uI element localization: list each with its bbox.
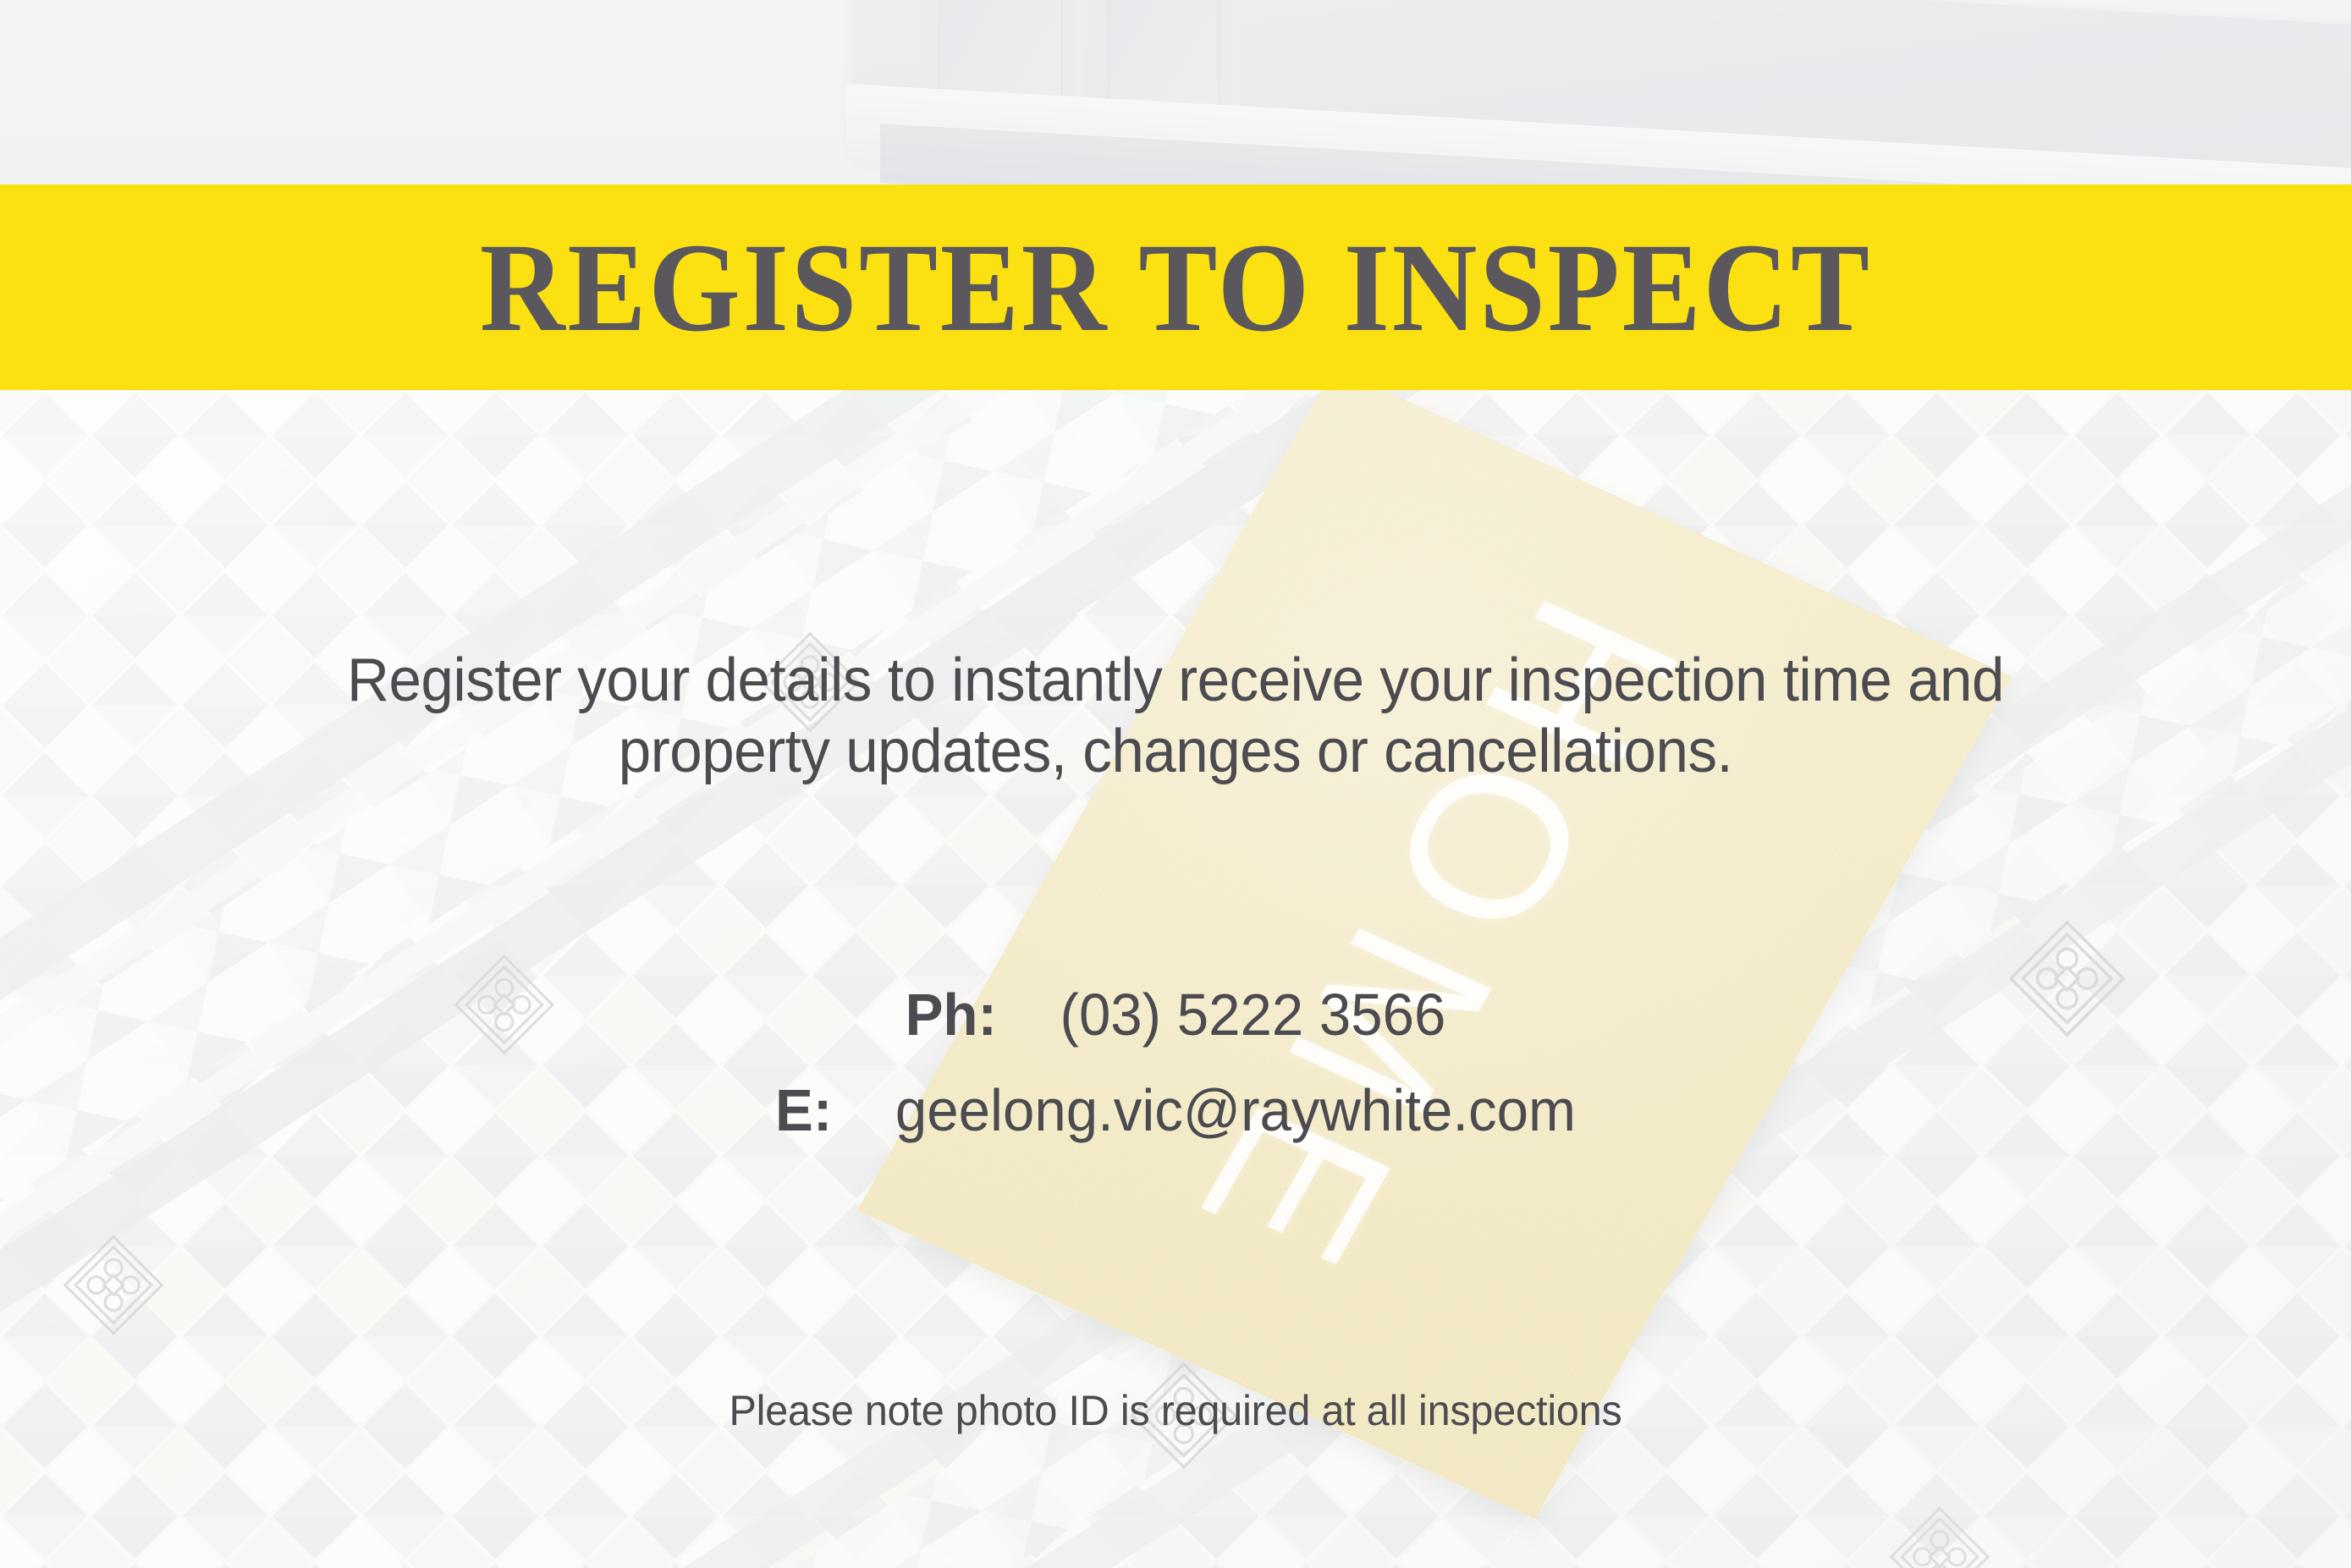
phone-number[interactable]: (03) 5222 3566 bbox=[1060, 982, 1446, 1048]
intro-paragraph: Register your details to instantly recei… bbox=[47, 645, 2304, 787]
photo-id-note: Please note photo ID is required at all … bbox=[36, 1386, 2316, 1435]
content-overlay: Register your details to instantly recei… bbox=[0, 0, 2351, 1568]
email-address[interactable]: geelong.vic@raywhite.com bbox=[895, 1077, 1576, 1143]
email-label: E: bbox=[775, 1077, 832, 1143]
contact-block: Ph: (03) 5222 3566 E: geelong.vic@raywhi… bbox=[47, 967, 2304, 1159]
phone-row: Ph: (03) 5222 3566 bbox=[47, 967, 2304, 1063]
poster-canvas: HOME REGISTER TO INSPECT Register your d… bbox=[0, 0, 2351, 1568]
phone-label: Ph: bbox=[906, 982, 997, 1048]
intro-line-2: property updates, changes or cancellatio… bbox=[47, 716, 2304, 787]
intro-line-1: Register your details to instantly recei… bbox=[47, 645, 2304, 716]
email-row: E: geelong.vic@raywhite.com bbox=[47, 1063, 2304, 1158]
